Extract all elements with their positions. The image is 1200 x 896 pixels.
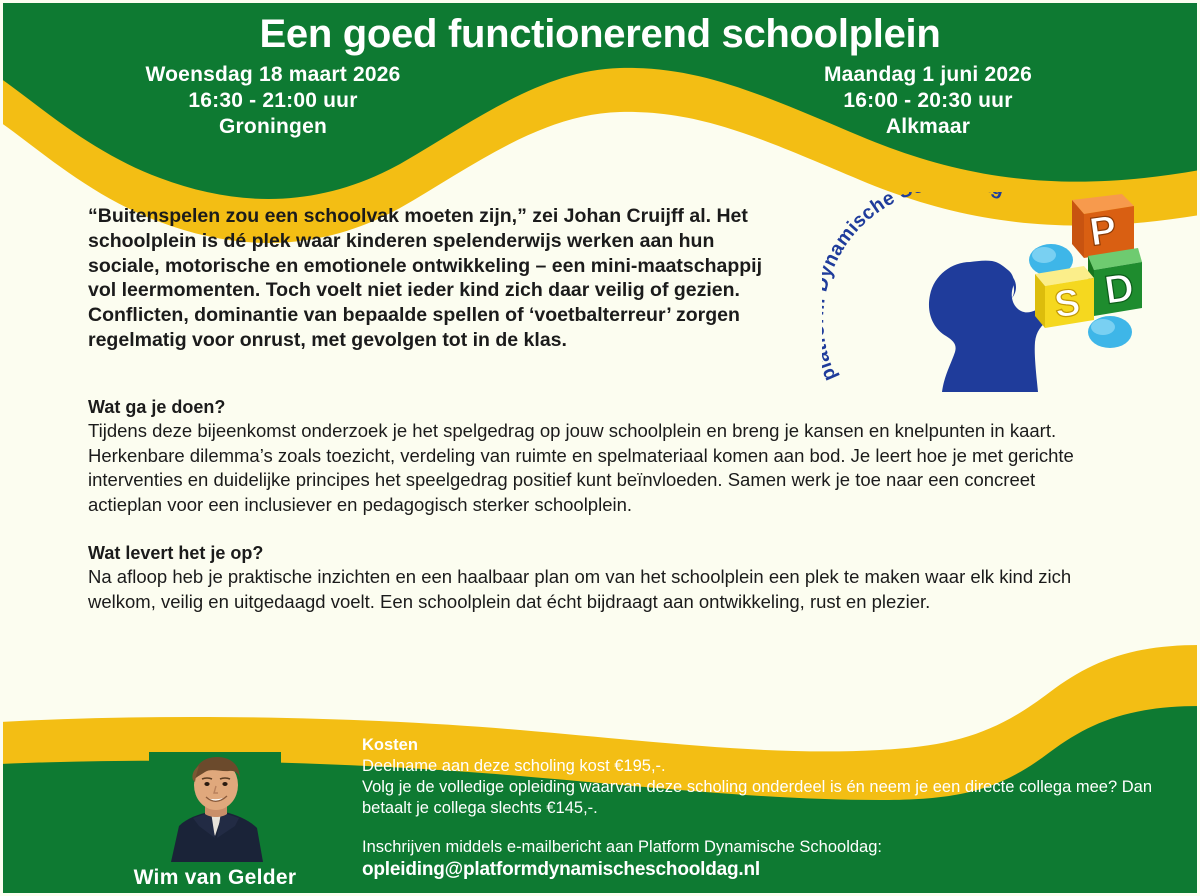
kosten-line-2: Volg je de volledige opleiding waarvan d…	[362, 777, 1152, 819]
block-p-icon: P	[1072, 194, 1134, 258]
session-alkmaar: Maandag 1 juni 2026 16:00 - 20:30 uur Al…	[718, 62, 1138, 140]
block-s-icon: S	[1035, 266, 1094, 328]
session-date: Maandag 1 juni 2026	[718, 62, 1138, 88]
footer-info-block: Kosten Deelname aan deze scholing kost €…	[362, 735, 1152, 882]
block-d-icon: D	[1088, 248, 1142, 316]
registration-email-link[interactable]: opleiding@platformdynamischeschooldag.nl	[362, 858, 1152, 882]
poster-footer: Wim van Gelder Kosten Deelname aan deze …	[0, 716, 1200, 896]
section-heading: Wat ga je doen?	[88, 396, 1108, 418]
section-heading: Wat levert het je op?	[88, 542, 1108, 564]
session-groningen: Woensdag 18 maart 2026 16:30 - 21:00 uur…	[48, 62, 498, 140]
intro-quote-paragraph: “Buitenspelen zou een schoolvak moeten z…	[88, 204, 788, 353]
section-text: Na afloop heb je praktische inzichten en…	[88, 565, 1108, 614]
session-time: 16:00 - 20:30 uur	[718, 88, 1138, 114]
kosten-line-1: Deelname aan deze scholing kost €195,-.	[362, 756, 1152, 777]
poster-header: Een goed functionerend schoolplein Woens…	[0, 0, 1200, 160]
section-text: Tijdens deze bijeenkomst onderzoek je he…	[88, 419, 1108, 517]
kosten-heading: Kosten	[362, 735, 1152, 755]
speaker-name: Wim van Gelder	[95, 866, 335, 890]
speaker-portrait-image	[149, 752, 281, 862]
ball-highlight-upper	[1032, 247, 1056, 263]
block-d-letter: D	[1102, 265, 1137, 313]
session-time: 16:30 - 21:00 uur	[48, 88, 498, 114]
section-wat-ga-je-doen: Wat ga je doen? Tijdens deze bijeenkomst…	[88, 396, 1108, 517]
session-city: Alkmaar	[718, 114, 1138, 140]
section-wat-levert-het-je-op: Wat levert het je op? Na afloop heb je p…	[88, 542, 1108, 614]
platform-dynamische-schooldag-logo: platform Dynamische Schooldag P D	[822, 192, 1142, 392]
session-date: Woensdag 18 maart 2026	[48, 62, 498, 88]
register-instruction: Inschrijven middels e-mailbericht aan Pl…	[362, 837, 1152, 858]
speaker-photo	[149, 752, 281, 862]
page-title: Een goed functionerend schoolplein	[0, 10, 1200, 58]
session-city: Groningen	[48, 114, 498, 140]
speaker-block: Wim van Gelder	[95, 752, 335, 890]
poster-root: Een goed functionerend schoolplein Woens…	[0, 0, 1200, 896]
ball-highlight-lower	[1091, 319, 1115, 335]
